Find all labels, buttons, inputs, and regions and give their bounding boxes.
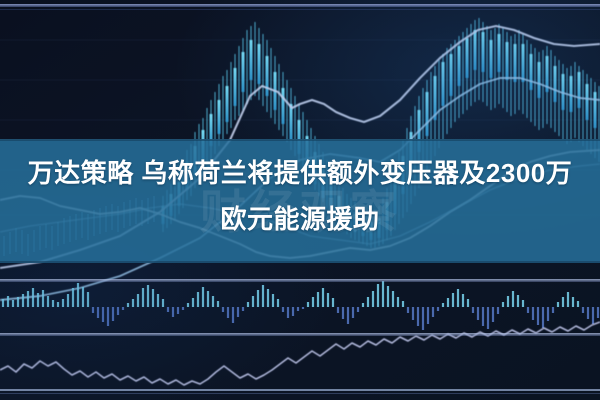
headline-line-1: 万达策略 乌称荷兰将提供额外变压器及2300万 (0, 150, 600, 196)
headline-text: 万达策略 乌称荷兰将提供额外变压器及2300万 欧元能源援助 (0, 150, 600, 242)
top-divider-line (0, 4, 600, 7)
headline-line-2: 欧元能源援助 (0, 196, 600, 242)
top-divider-line-secondary (0, 9, 600, 10)
panel-separator-lower (0, 333, 600, 336)
bottom-divider-line-secondary (0, 393, 600, 394)
bottom-divider-line (0, 389, 600, 391)
headline-band-bottom-edge (0, 261, 600, 263)
headline-band-top-edge (0, 139, 600, 141)
news-banner-image: 财经观察 万达策略 乌称荷兰将提供额外变压器及2300万 欧元能源援助 (0, 0, 600, 400)
panel-separator-upper (0, 279, 600, 282)
